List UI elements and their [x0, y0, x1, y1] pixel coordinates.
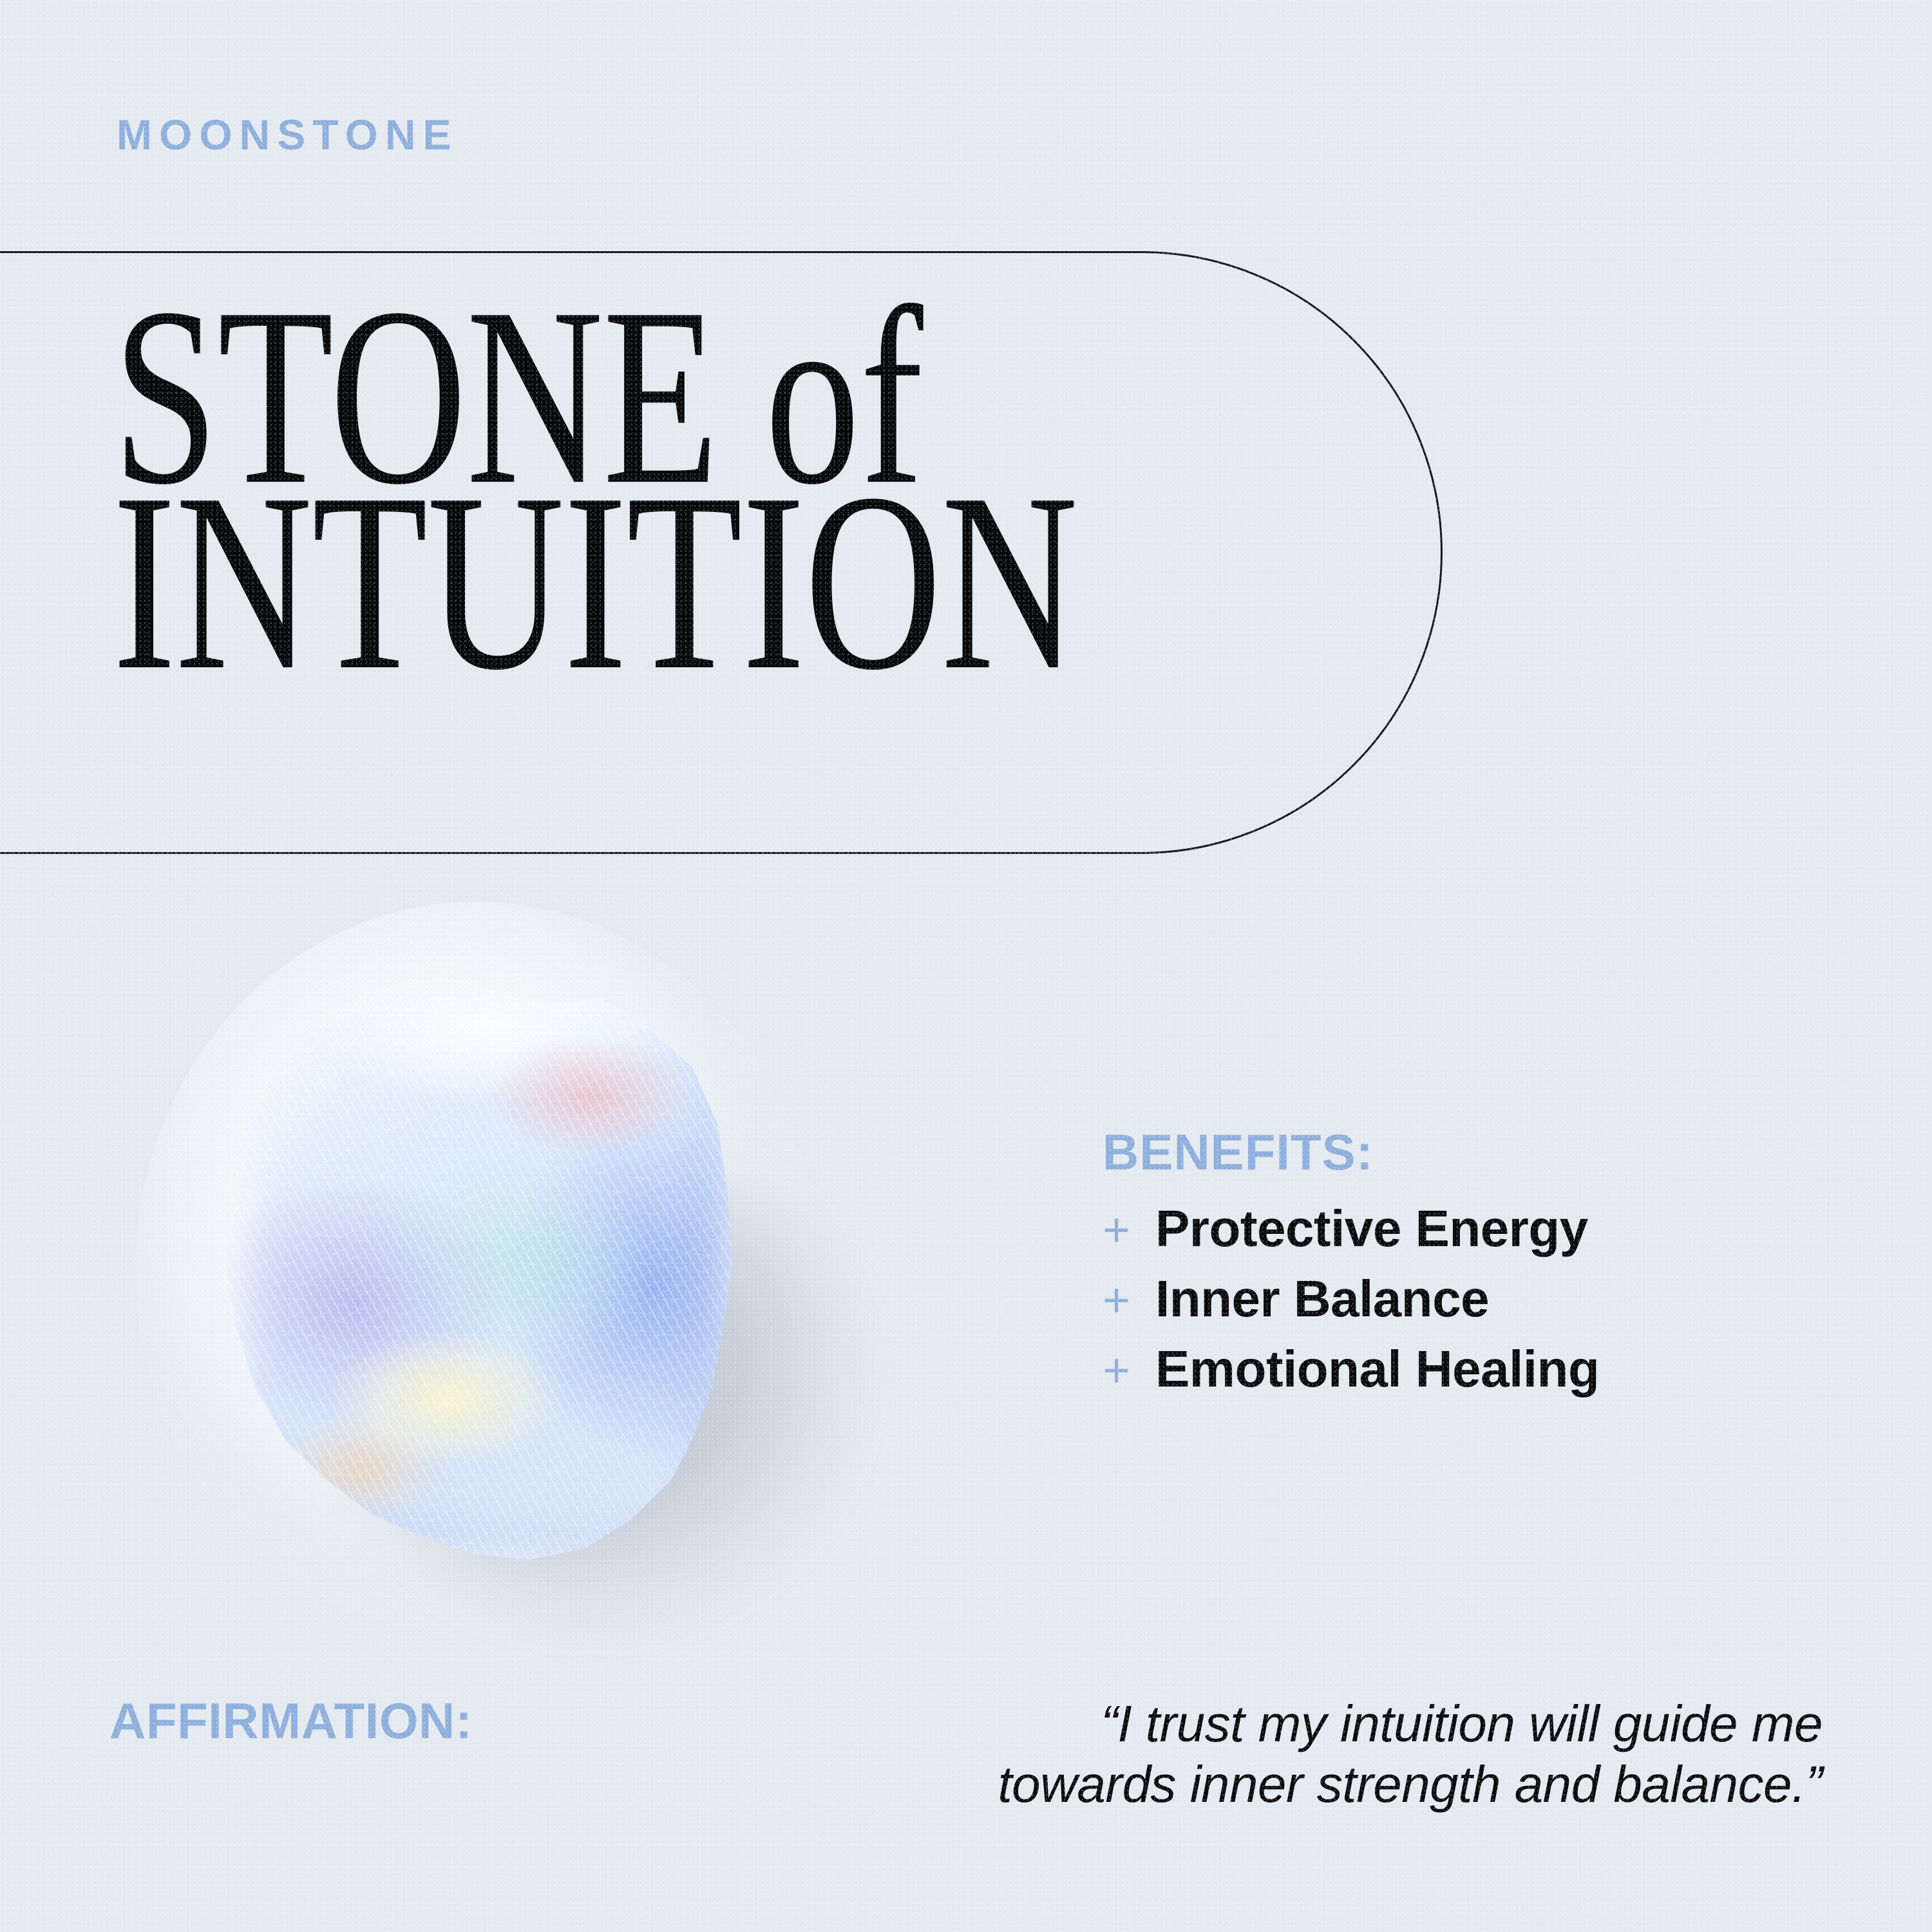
plus-icon: +	[1103, 1347, 1136, 1394]
affirmation-quote-line-1: “I trust my intuition will guide me	[1101, 1695, 1823, 1752]
affirmation-quote: “I trust my intuition will guide me towa…	[486, 1694, 1823, 1815]
title-line-2: INTUITION	[113, 473, 1359, 692]
affirmation-label: AFFIRMATION:	[109, 1694, 472, 1749]
benefit-label: Protective Energy	[1155, 1202, 1588, 1255]
benefit-item-inner-balance: + Inner Balance	[1103, 1272, 1843, 1325]
page-title: STONE of INTUITION	[113, 304, 1529, 675]
plus-icon: +	[1103, 1206, 1136, 1254]
benefits-heading: BENEFITS:	[1103, 1127, 1843, 1177]
benefit-label: Inner Balance	[1155, 1272, 1489, 1325]
plus-icon: +	[1103, 1276, 1136, 1324]
benefit-item-protective-energy: + Protective Energy	[1103, 1202, 1843, 1255]
category-eyebrow-moonstone: MOONSTONE	[117, 113, 458, 156]
moonstone-crystal-image	[213, 972, 741, 1571]
affirmation-section: AFFIRMATION: “I trust my intuition will …	[109, 1694, 1823, 1815]
affirmation-quote-line-2: towards inner strength and balance.”	[998, 1756, 1823, 1813]
benefit-label: Emotional Healing	[1155, 1342, 1599, 1396]
benefits-section: BENEFITS: + Protective Energy + Inner Ba…	[1103, 1127, 1843, 1413]
benefit-item-emotional-healing: + Emotional Healing	[1103, 1342, 1843, 1396]
